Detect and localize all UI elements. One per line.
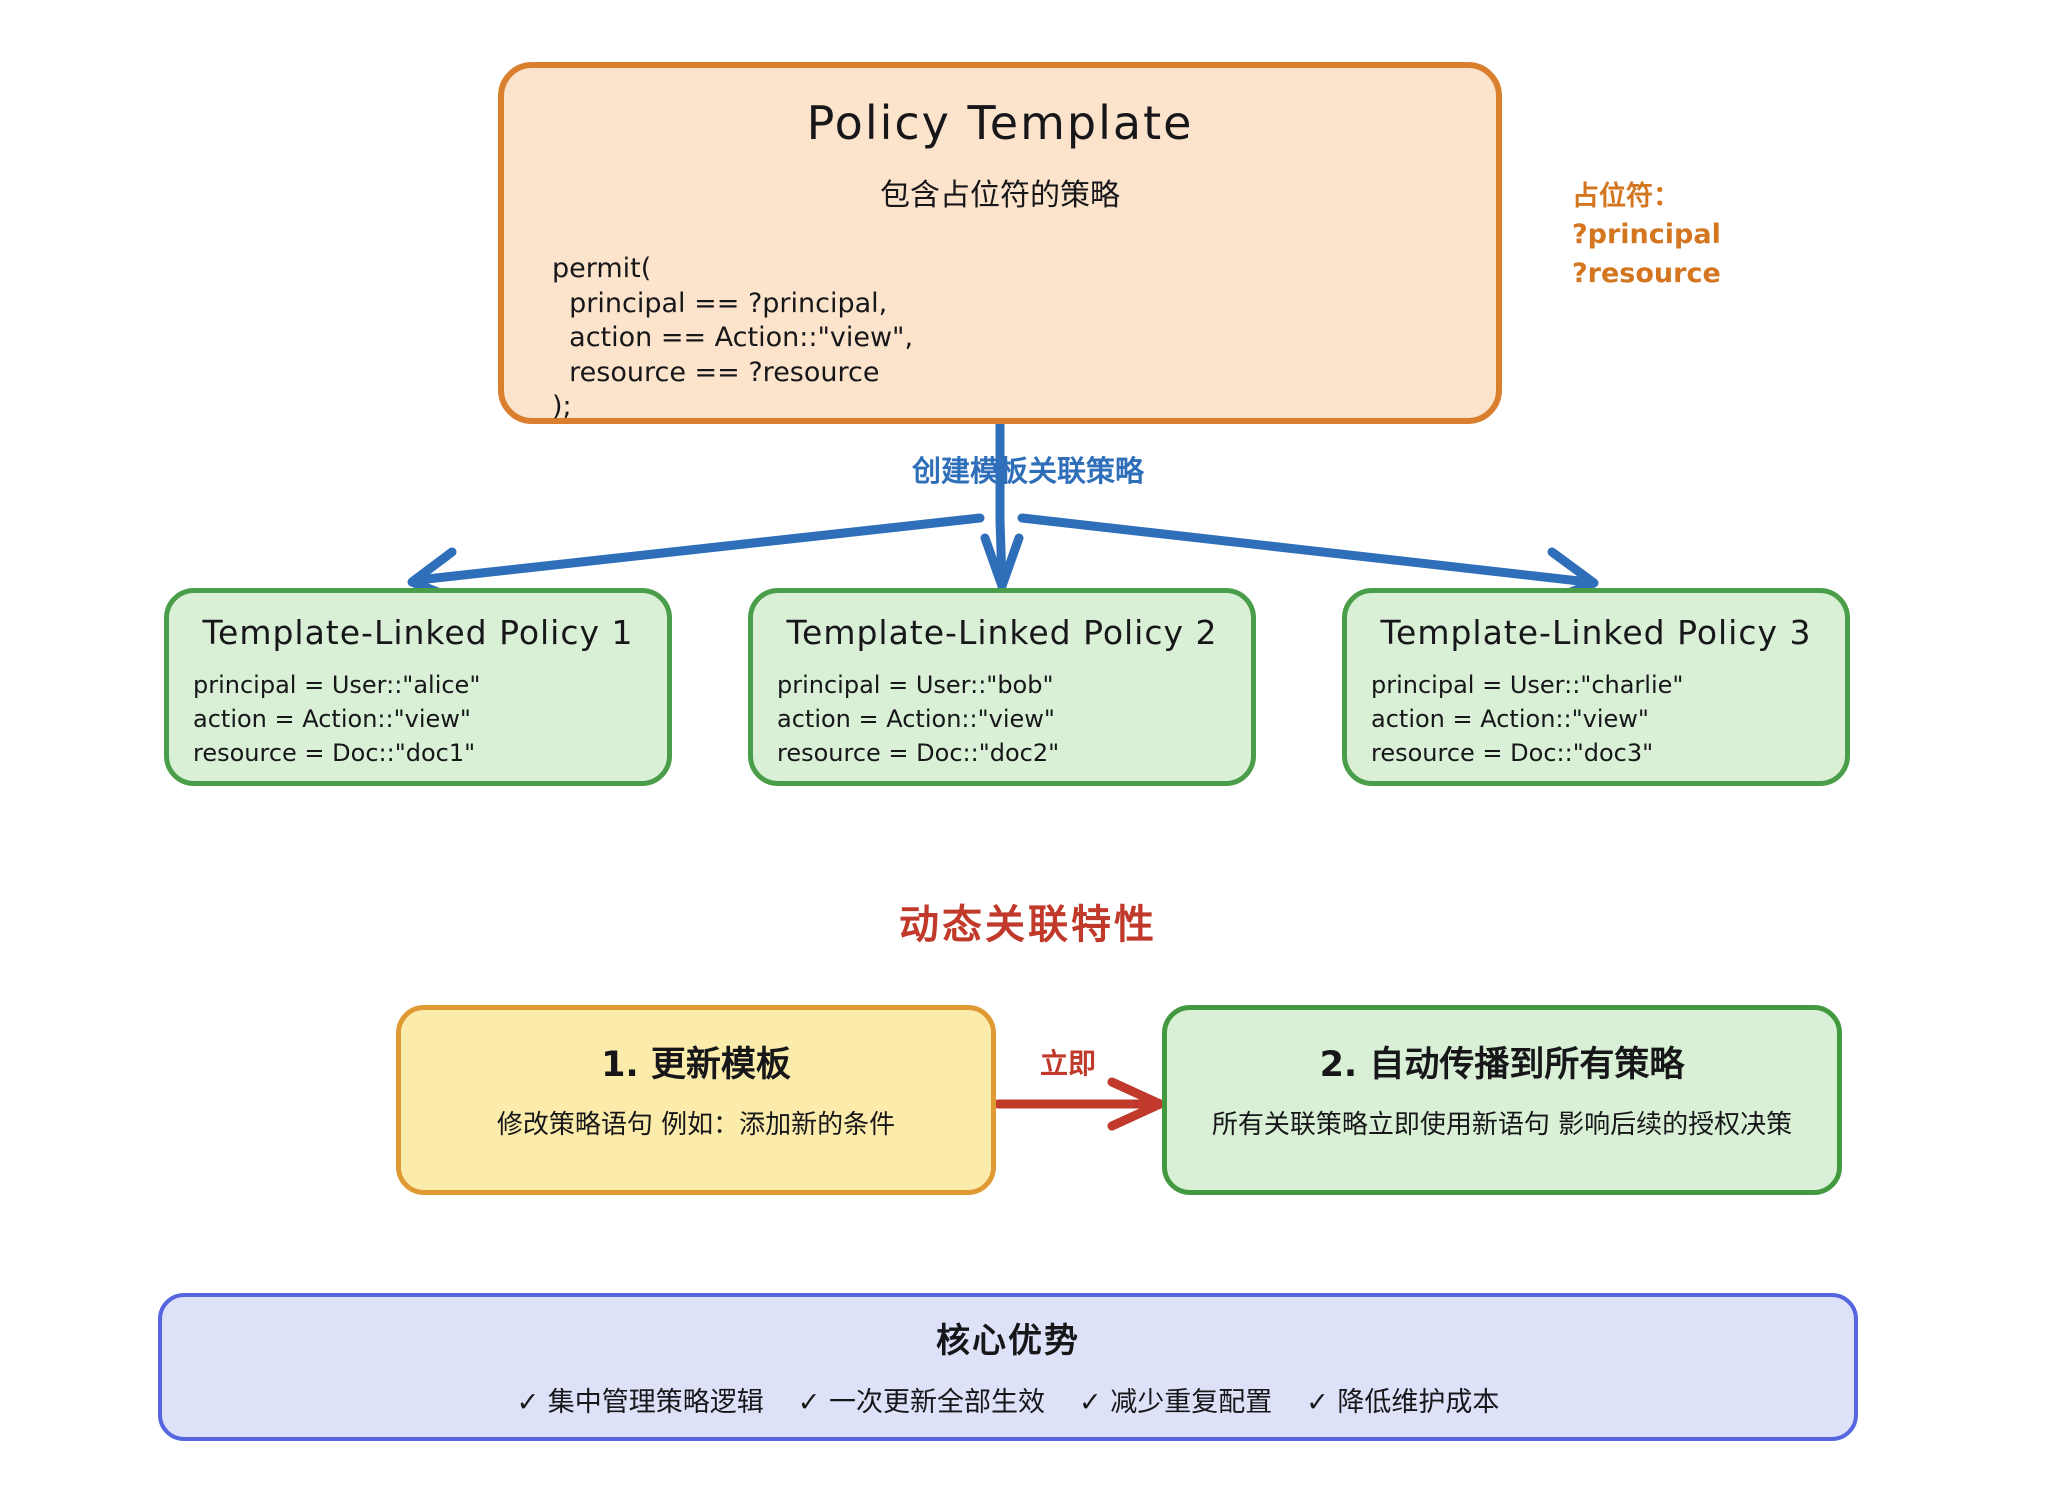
benefit-item: ✓ 降低维护成本 (1306, 1380, 1499, 1419)
diagram-canvas: Policy Template 包含占位符的策略 permit( princip… (0, 0, 2056, 1496)
dynamic-link-heading: 动态关联特性 (0, 892, 2056, 950)
policy-body: principal = User::"alice" action = Actio… (193, 668, 667, 770)
step-body: 修改策略语句 例如：添加新的条件 (497, 1107, 895, 1144)
benefit-item: ✓ 一次更新全部生效 (798, 1380, 1045, 1419)
template-linked-policy-3: Template-Linked Policy 3 principal = Use… (1342, 588, 1850, 786)
step-propagate-box: 2. 自动传播到所有策略 所有关联策略立即使用新语句 影响后续的授权决策 (1162, 1005, 1842, 1195)
policy-template-box: Policy Template 包含占位符的策略 permit( princip… (498, 62, 1502, 424)
template-linked-policy-2: Template-Linked Policy 2 principal = Use… (748, 588, 1256, 786)
policy-template-code: permit( principal == ?principal, action … (552, 252, 913, 425)
placeholder-resource: ?resource (1572, 255, 1721, 293)
step-title: 1. 更新模板 (601, 1036, 791, 1087)
policy-title: Template-Linked Policy 3 (1347, 613, 1845, 652)
step-body: 所有关联策略立即使用新语句 影响后续的授权决策 (1212, 1107, 1792, 1144)
policy-body: principal = User::"bob" action = Action:… (777, 668, 1251, 770)
create-linked-policy-label: 创建模板关联策略 (0, 448, 2056, 490)
template-linked-policy-1: Template-Linked Policy 1 principal = Use… (164, 588, 672, 786)
benefit-item: ✓ 集中管理策略逻辑 (517, 1380, 764, 1419)
arrowhead-center (985, 538, 1019, 586)
core-benefits-box: 核心优势 ✓ 集中管理策略逻辑 ✓ 一次更新全部生效 ✓ 减少重复配置 ✓ 降低… (158, 1293, 1858, 1441)
placeholder-note-label: 占位符： (1572, 178, 1721, 216)
policy-template-title: Policy Template (807, 96, 1194, 150)
policy-template-subtitle: 包含占位符的策略 (880, 170, 1120, 214)
arrow-center (1000, 520, 1002, 582)
policy-title: Template-Linked Policy 1 (169, 613, 667, 652)
arrow-right (1022, 518, 1588, 582)
placeholder-principal: ?principal (1572, 216, 1721, 254)
step-update-template-box: 1. 更新模板 修改策略语句 例如：添加新的条件 (396, 1005, 996, 1195)
policy-title: Template-Linked Policy 2 (753, 613, 1251, 652)
step-title: 2. 自动传播到所有策略 (1320, 1036, 1685, 1087)
immediate-arrow-label: 立即 (1040, 1042, 1096, 1082)
benefits-title: 核心优势 (936, 1313, 1080, 1362)
arrow-left (418, 518, 980, 580)
benefits-list: ✓ 集中管理策略逻辑 ✓ 一次更新全部生效 ✓ 减少重复配置 ✓ 降低维护成本 (517, 1380, 1500, 1419)
placeholder-note: 占位符： ?principal ?resource (1572, 178, 1721, 293)
arrowhead-immediate (1112, 1082, 1160, 1126)
policy-body: principal = User::"charlie" action = Act… (1371, 668, 1845, 770)
benefit-item: ✓ 减少重复配置 (1079, 1380, 1272, 1419)
